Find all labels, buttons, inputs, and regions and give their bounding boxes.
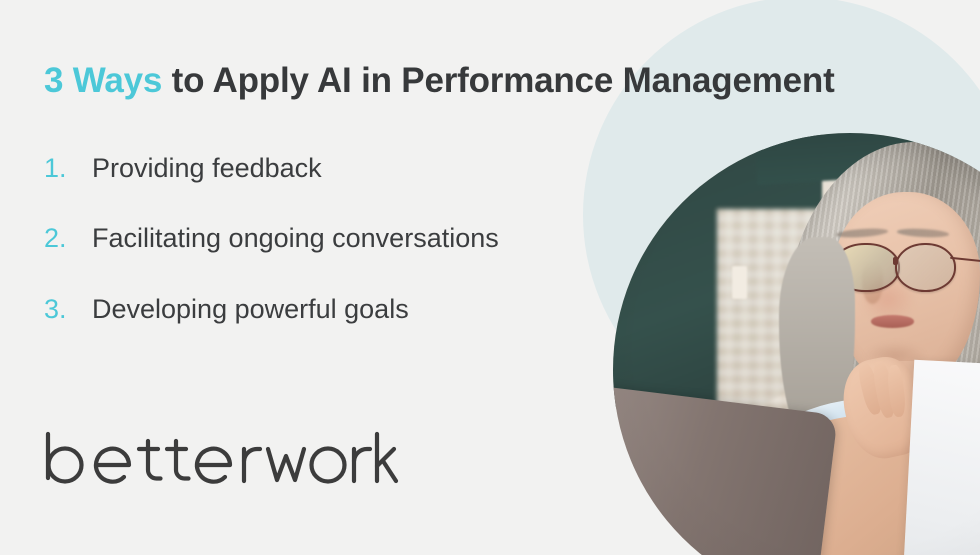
list-item-label: Providing feedback [92, 152, 322, 184]
photo-circle [613, 133, 980, 555]
photo-image [613, 133, 980, 555]
list-item-number: 2. [44, 222, 92, 254]
photo-vignette [613, 133, 980, 555]
betterworks-wordmark-icon [40, 428, 400, 500]
slide-canvas: 3 Ways to Apply AI in Performance Manage… [0, 0, 980, 555]
betterworks-logo: betterworks [40, 428, 400, 500]
list-item: 1. Providing feedback [44, 152, 644, 184]
list-item-label: Developing powerful goals [92, 293, 409, 325]
numbered-list: 1. Providing feedback 2. Facilitating on… [44, 152, 644, 363]
title-rest: to Apply AI in Performance Management [162, 61, 834, 100]
list-item: 3. Developing powerful goals [44, 293, 644, 325]
page-title: 3 Ways to Apply AI in Performance Manage… [44, 60, 944, 101]
list-item-number: 3. [44, 293, 92, 325]
list-item-label: Facilitating ongoing conversations [92, 222, 499, 254]
list-item-number: 1. [44, 152, 92, 184]
title-accent: 3 Ways [44, 61, 162, 100]
list-item: 2. Facilitating ongoing conversations [44, 222, 644, 254]
